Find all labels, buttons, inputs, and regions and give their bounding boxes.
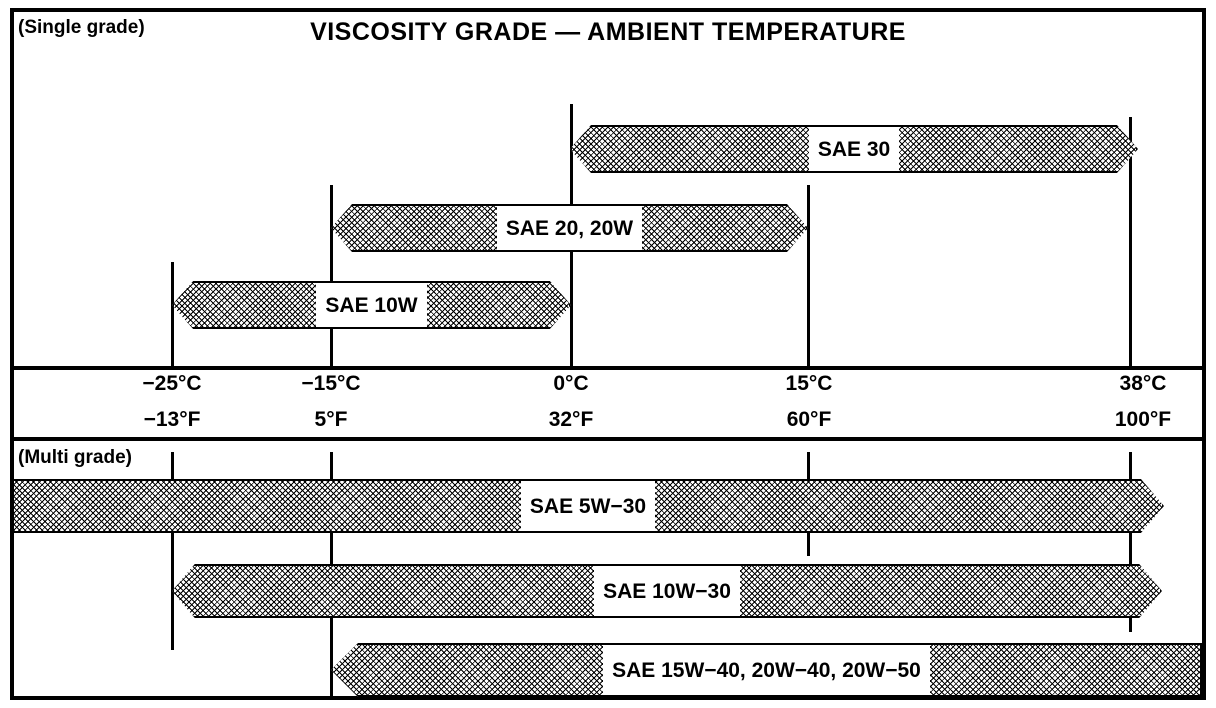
tick-label-f-1: 5°F — [315, 408, 348, 432]
tick-label-c-2: 0°C — [553, 372, 588, 396]
single-grade-section-label: (Single grade) — [18, 17, 145, 39]
tick-label-c-4: 38°C — [1120, 372, 1167, 396]
bar-label-sae-20-20w: SAE 20, 20W — [497, 204, 642, 252]
page-title: VISCOSITY GRADE — AMBIENT TEMPERATURE — [0, 18, 1216, 47]
bar-label-sae-30: SAE 30 — [809, 125, 899, 173]
gridline-15c-single — [807, 185, 810, 366]
tick-label-c-0: −25°C — [142, 372, 201, 396]
axis-top-rule — [14, 366, 1202, 370]
tick-label-c-3: 15°C — [786, 372, 833, 396]
tick-label-f-0: −13°F — [144, 408, 201, 432]
viscosity-grade-chart: VISCOSITY GRADE — AMBIENT TEMPERATURE (S… — [0, 0, 1216, 708]
bar-sae-20-20w[interactable]: SAE 20, 20W — [331, 204, 808, 252]
bar-sae-10w-30[interactable]: SAE 10W−30 — [172, 564, 1162, 618]
tick-label-c-1: −15°C — [301, 372, 360, 396]
bar-label-sae-10w: SAE 10W — [316, 281, 426, 329]
multi-grade-section-label: (Multi grade) — [18, 447, 132, 469]
bar-sae-15w-40-20w-40-20w-50[interactable]: SAE 15W−40, 20W−40, 20W−50 — [331, 643, 1202, 697]
bar-label-sae-10w-30: SAE 10W−30 — [594, 564, 740, 618]
bar-sae-30[interactable]: SAE 30 — [570, 125, 1138, 173]
gridline-m15c-single — [330, 185, 333, 366]
tick-label-f-2: 32°F — [549, 408, 594, 432]
bar-label-sae-15w-40: SAE 15W−40, 20W−40, 20W−50 — [603, 643, 930, 697]
axis-bottom-rule — [14, 437, 1202, 441]
bar-sae-5w-30[interactable]: SAE 5W−30 — [12, 479, 1164, 533]
tick-label-f-4: 100°F — [1115, 408, 1171, 432]
tick-label-f-3: 60°F — [787, 408, 832, 432]
gridline-m25c-single — [171, 262, 174, 366]
bar-sae-10w[interactable]: SAE 10W — [172, 281, 571, 329]
bar-label-sae-5w-30: SAE 5W−30 — [521, 479, 655, 533]
